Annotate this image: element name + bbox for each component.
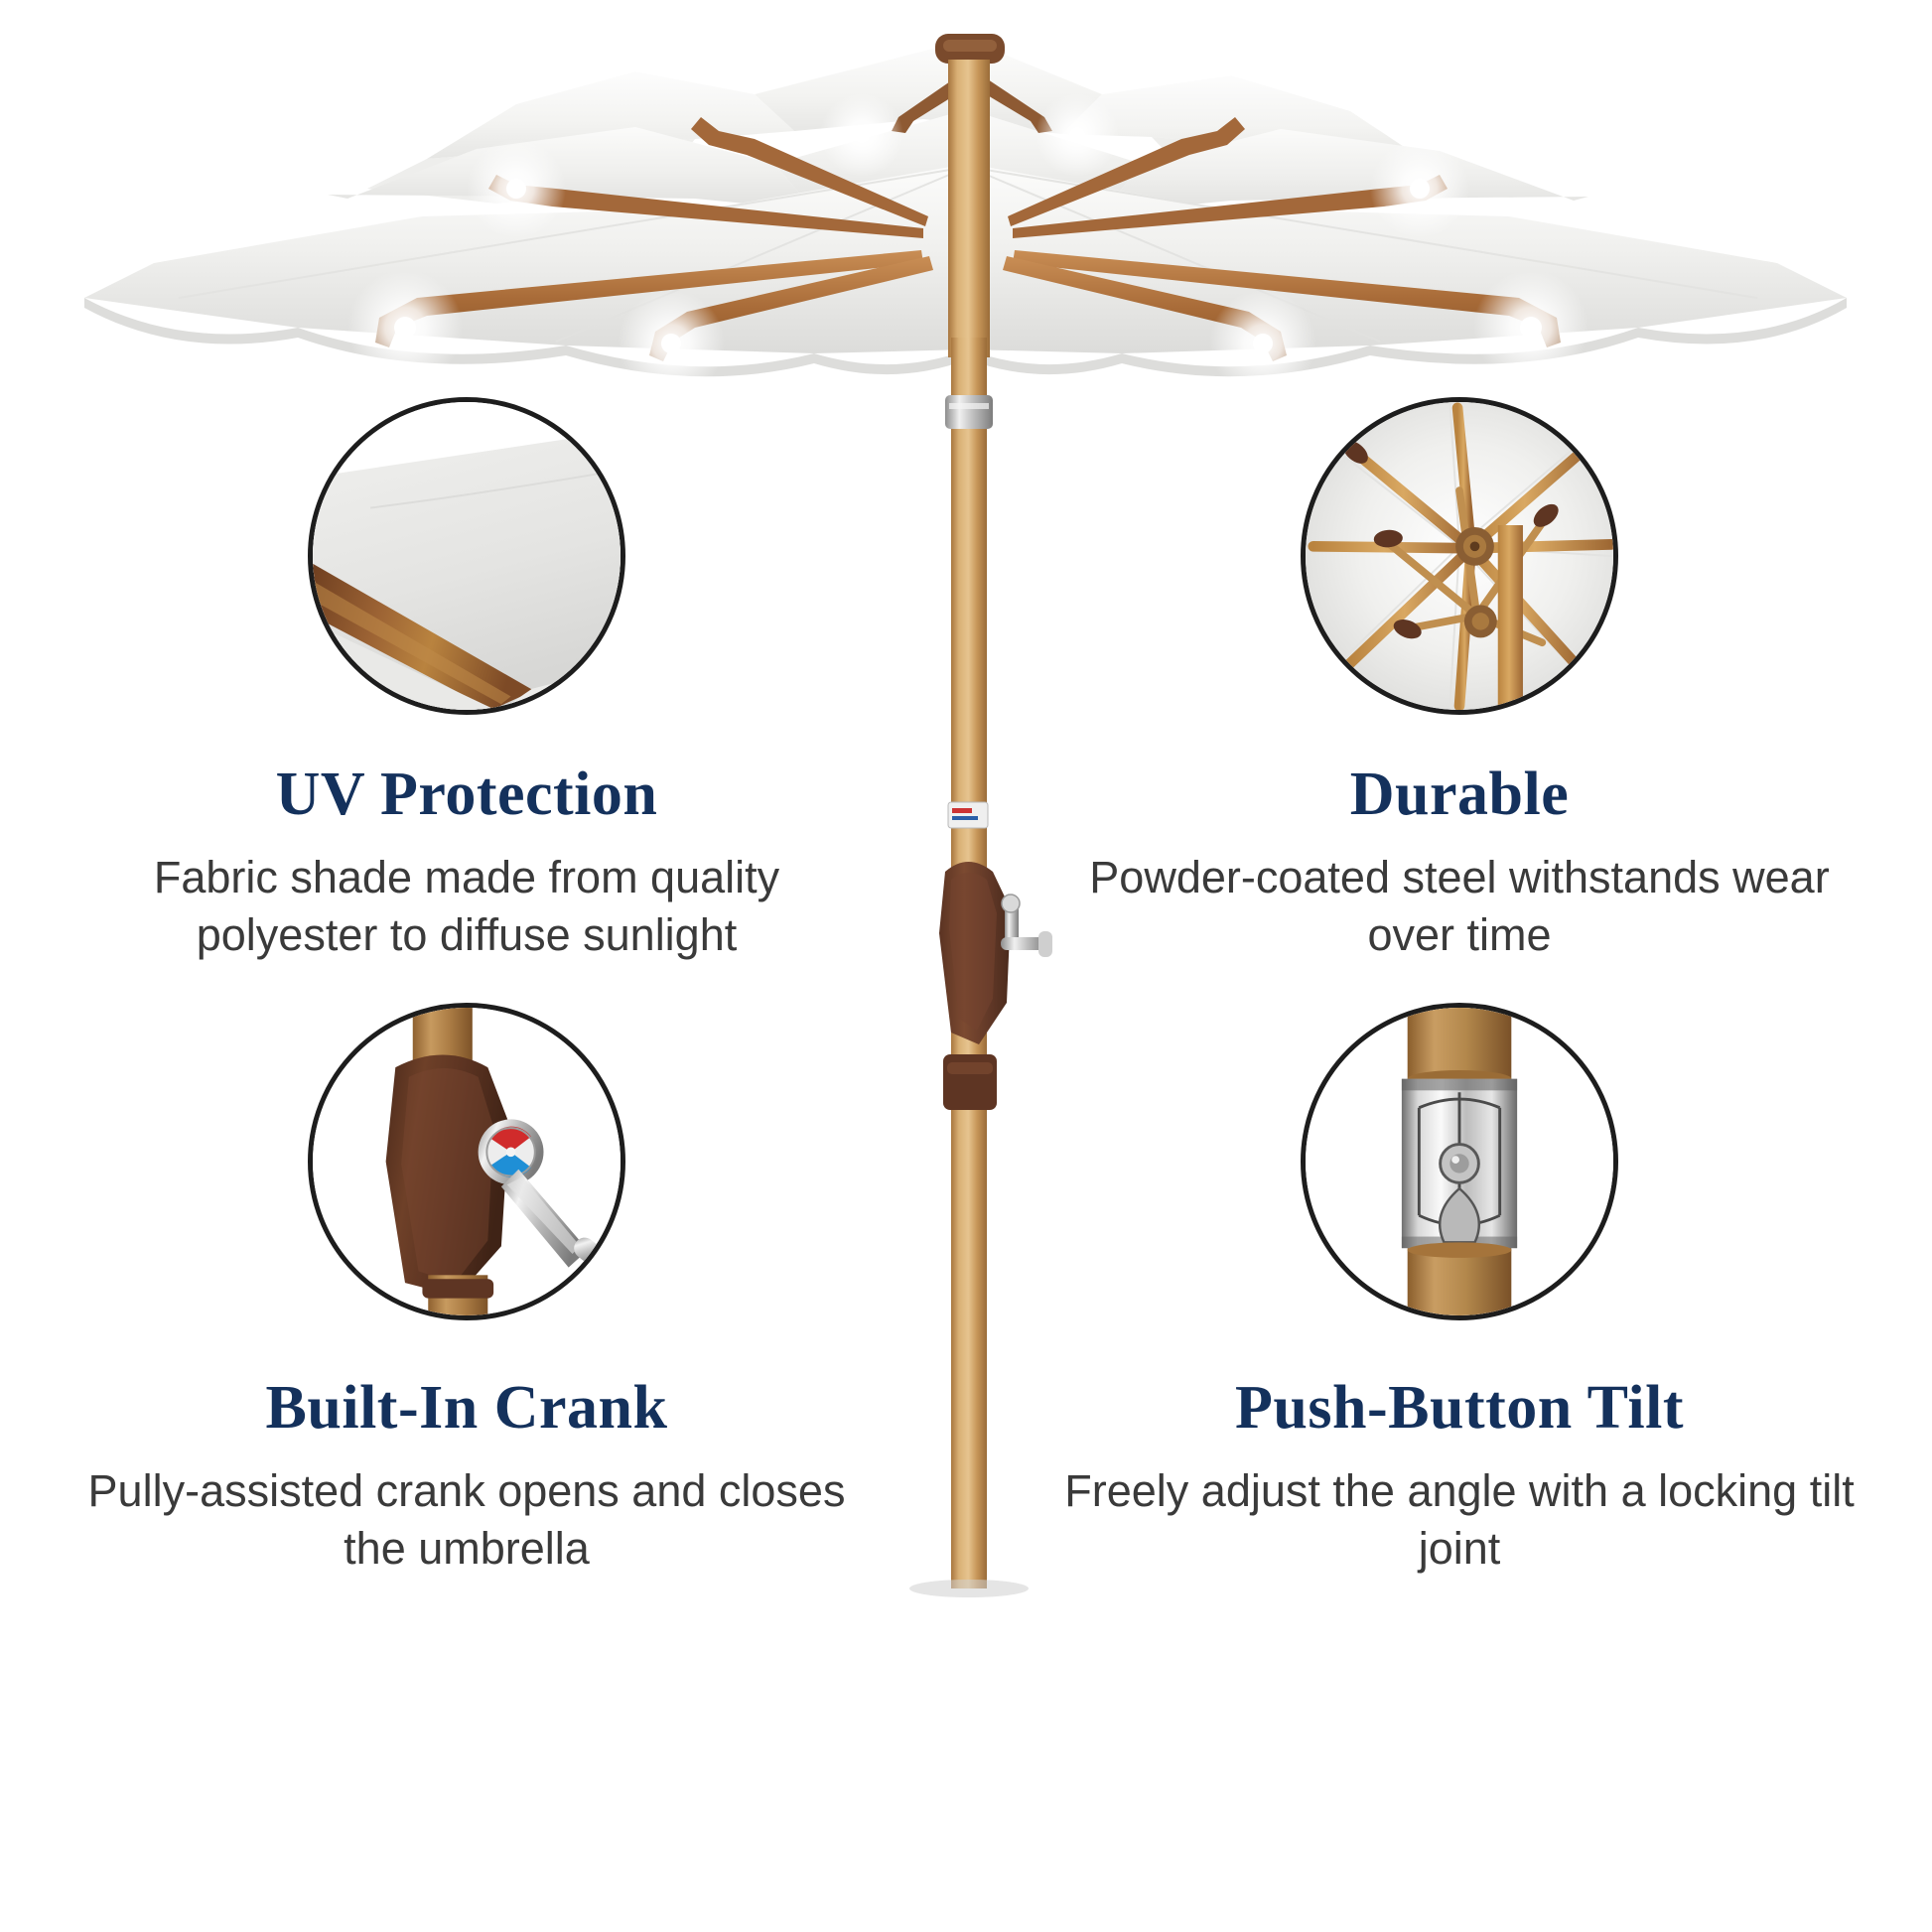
feature-description: Fabric shade made from quality polyester… [40,849,894,963]
feature-grid: UV Protection Fabric shade made from qua… [0,0,1932,1932]
callout-wrap-push-button-tilt [1301,1003,1618,1320]
product-feature-infographic: UV Protection Fabric shade made from qua… [0,0,1932,1932]
feature-title: Built-In Crank [40,1376,894,1441]
feature-description: Freely adjust the angle with a locking t… [1033,1462,1886,1577]
feature-title: UV Protection [40,762,894,827]
umbrella-underside-ribs-closeup [1301,397,1618,715]
tilt-joint-closeup [1301,1003,1618,1320]
feature-uv-protection: UV Protection Fabric shade made from qua… [40,397,894,963]
crank-handle-closeup [308,1003,625,1320]
callout-wrap-built-in-crank [308,1003,625,1320]
feature-title: Push-Button Tilt [1033,1376,1886,1441]
callout-wrap-uv-protection [308,397,625,715]
feature-push-button-tilt: Push-Button Tilt Freely adjust the angle… [1033,1003,1886,1577]
feature-description: Powder-coated steel withstands wear over… [1033,849,1886,963]
fabric-canopy-closeup [308,397,625,715]
feature-title: Durable [1033,762,1886,827]
feature-description: Pully-assisted crank opens and closes th… [40,1462,894,1577]
feature-durable: Durable Powder-coated steel withstands w… [1033,397,1886,963]
callout-wrap-durable [1301,397,1618,715]
feature-built-in-crank: Built-In Crank Pully-assisted crank open… [40,1003,894,1577]
